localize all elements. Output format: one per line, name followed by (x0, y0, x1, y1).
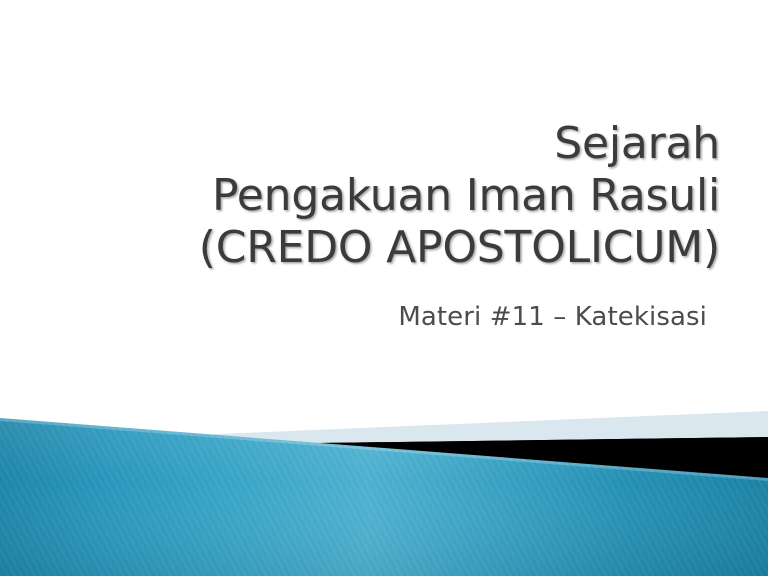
subtitle-text: Materi #11 – Katekisasi (398, 302, 707, 332)
teal-wedge-texture (0, 400, 768, 576)
black-wedge-body (246, 437, 768, 479)
title-line-1: Sejarah (40, 118, 720, 170)
title-line-3: (CREDO APOSTOLICUM) (40, 222, 720, 274)
title-line-2: Pengakuan Iman Rasuli (40, 170, 720, 222)
teal-wedge-highlight-edge (0, 418, 768, 481)
angled-banner-graphic (0, 0, 768, 576)
pale-blue-wedge (170, 411, 768, 444)
teal-wedge (0, 418, 768, 576)
page-title: Sejarah Pengakuan Iman Rasuli (CREDO APO… (40, 118, 720, 274)
subtitle: Materi #11 – Katekisasi (40, 300, 707, 334)
black-wedge (246, 437, 768, 479)
title-slide: Sejarah Pengakuan Iman Rasuli (CREDO APO… (0, 0, 768, 576)
teal-wedge-shading (0, 400, 768, 576)
